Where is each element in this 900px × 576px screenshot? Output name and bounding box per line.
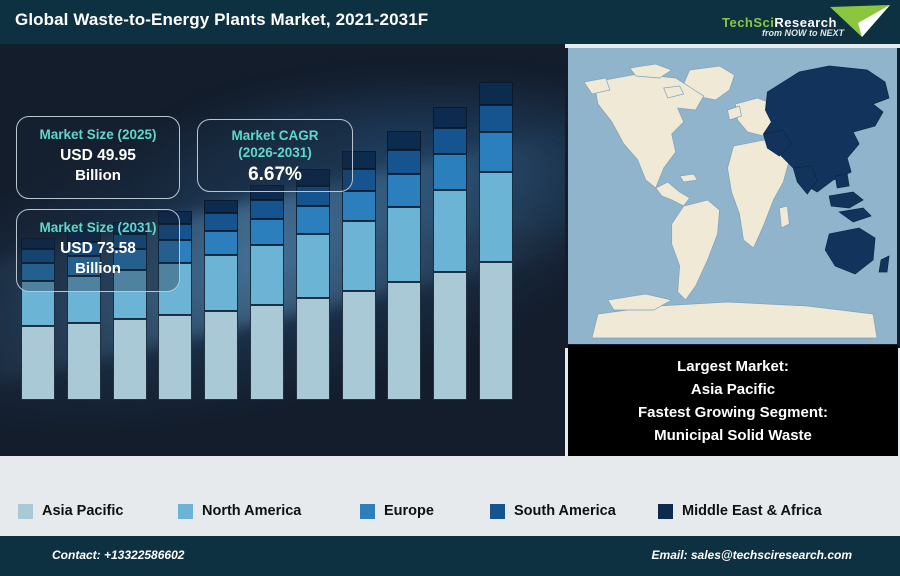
world-map — [565, 48, 900, 348]
page-title: Global Waste-to-Energy Plants Market, 20… — [15, 10, 428, 30]
legend-swatch-icon — [490, 504, 505, 519]
legend-label: Asia Pacific — [42, 503, 123, 519]
bar-segment-europe — [433, 154, 467, 190]
bar-segment-asia-pacific — [296, 298, 330, 400]
kpi-label-line1: Market CAGR — [198, 127, 352, 144]
legend-label: South America — [514, 503, 616, 519]
kpi-card-market-size-2031: Market Size (2031) USD 73.58 Billion — [16, 209, 180, 292]
kpi-value: 6.67% — [198, 163, 352, 187]
kpi-value: USD 49.95 — [17, 145, 179, 166]
kpi-value: USD 73.58 — [17, 238, 179, 259]
bar-segment-europe — [387, 174, 421, 207]
legend-item-europe[interactable]: Europe — [360, 503, 434, 519]
chart-legend: Asia PacificNorth AmericaEuropeSouth Ame… — [0, 488, 900, 536]
bar-segment-north-america — [204, 255, 238, 311]
bar-2029F — [387, 131, 421, 400]
techsci-research-logo: TechSciResearch from NOW to NEXT — [716, 2, 894, 42]
bar-segment-middle-east-africa — [433, 107, 467, 128]
footer-email: Email: sales@techsciresearch.com — [652, 548, 852, 562]
kpi-label: Market Size (2031) — [17, 219, 179, 236]
bar-segment-asia-pacific — [204, 311, 238, 400]
bar-segment-asia-pacific — [250, 305, 284, 400]
bar-segment-north-america — [296, 234, 330, 298]
bar-segment-europe — [342, 191, 376, 221]
bar-segment-asia-pacific — [158, 315, 192, 400]
legend-item-north-america[interactable]: North America — [178, 503, 301, 519]
world-map-svg — [568, 48, 897, 344]
bar-segment-europe — [204, 231, 238, 255]
chart-panel: Market Size (2025) USD 49.95 Billion Mar… — [0, 44, 565, 456]
bar-2030F — [433, 107, 467, 400]
bar-segment-north-america — [433, 190, 467, 272]
bar-segment-middle-east-africa — [479, 82, 513, 104]
legend-label: Europe — [384, 503, 434, 519]
bar-2031F — [479, 82, 513, 400]
bar-segment-north-america — [250, 245, 284, 305]
kpi-card-market-cagr: Market CAGR (2026-2031) 6.67% — [197, 119, 353, 192]
info-largest-market-value: Asia Pacific — [691, 378, 775, 401]
legend-swatch-icon — [360, 504, 375, 519]
kpi-label-line2: (2026-2031) — [198, 144, 352, 161]
bar-segment-north-america — [342, 221, 376, 291]
bar-segment-north-america — [387, 207, 421, 282]
legend-item-middle-east-africa[interactable]: Middle East & Africa — [658, 503, 822, 519]
bar-segment-asia-pacific — [67, 323, 101, 400]
info-largest-market-label: Largest Market: — [677, 355, 789, 378]
bar-segment-europe — [250, 219, 284, 245]
legend-item-south-america[interactable]: South America — [490, 503, 616, 519]
bar-segment-asia-pacific — [342, 291, 376, 400]
bar-segment-middle-east-africa — [204, 200, 238, 214]
bar-2027F — [296, 169, 330, 400]
kpi-unit: Billion — [17, 166, 179, 186]
bar-segment-middle-east-africa — [387, 131, 421, 150]
bar-segment-south-america — [479, 105, 513, 133]
legend-swatch-icon — [178, 504, 193, 519]
bar-segment-south-america — [250, 200, 284, 219]
info-fastest-segment-label: Fastest Growing Segment: — [638, 401, 828, 424]
footer-bar: Contact: +13322586602 Email: sales@techs… — [0, 536, 900, 576]
info-fastest-segment-value: Municipal Solid Waste — [654, 424, 812, 447]
legend-swatch-icon — [18, 504, 33, 519]
bar-segment-asia-pacific — [433, 272, 467, 400]
bar-2026E — [250, 185, 284, 400]
bar-segment-asia-pacific — [387, 282, 421, 400]
kpi-unit: Billion — [17, 259, 179, 279]
legend-item-asia-pacific[interactable]: Asia Pacific — [18, 503, 123, 519]
logo-tagline: from NOW to NEXT — [762, 28, 844, 38]
footer-contact: Contact: +13322586602 — [52, 548, 184, 562]
kpi-label: Market Size (2025) — [17, 126, 179, 143]
header-bar: Global Waste-to-Energy Plants Market, 20… — [0, 0, 900, 44]
bar-segment-asia-pacific — [21, 326, 55, 400]
bar-segment-asia-pacific — [113, 319, 147, 400]
bar-segment-south-america — [433, 128, 467, 154]
infographic-page: Global Waste-to-Energy Plants Market, 20… — [0, 0, 900, 576]
legend-label: North America — [202, 503, 301, 519]
bar-segment-europe — [296, 206, 330, 234]
bar-segment-south-america — [387, 150, 421, 174]
legend-swatch-icon — [658, 504, 673, 519]
bar-2025 — [204, 200, 238, 401]
bar-segment-south-america — [204, 213, 238, 230]
legend-label: Middle East & Africa — [682, 503, 822, 519]
bar-segment-europe — [479, 132, 513, 171]
bar-segment-north-america — [479, 172, 513, 262]
info-box: Largest Market: Asia Pacific Fastest Gro… — [568, 345, 898, 456]
kpi-card-market-size-2025: Market Size (2025) USD 49.95 Billion — [16, 116, 180, 199]
bar-segment-asia-pacific — [479, 262, 513, 400]
